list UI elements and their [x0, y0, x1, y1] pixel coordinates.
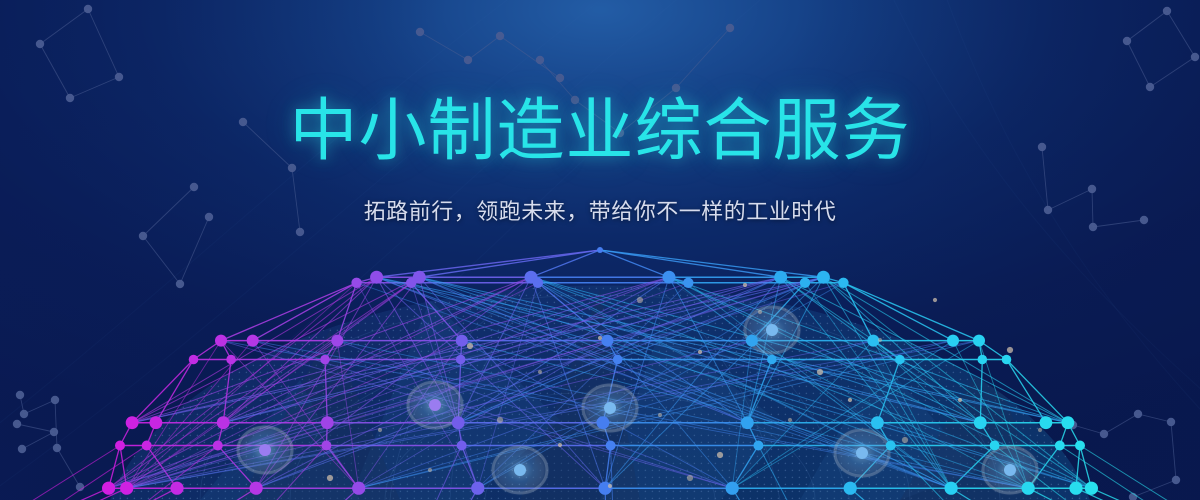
dome-node: [1055, 441, 1065, 451]
dome-node: [741, 416, 754, 429]
dome-node: [947, 335, 959, 347]
dome-particle: [637, 297, 643, 303]
dome-node: [351, 278, 361, 288]
dome-node: [150, 416, 163, 429]
dome-node: [990, 441, 1000, 451]
dome-node: [170, 482, 183, 495]
dome-node: [142, 441, 152, 451]
dome-particle: [933, 298, 937, 302]
dome-node: [800, 278, 810, 288]
dome-particle: [608, 484, 612, 488]
dome-particle: [958, 398, 962, 402]
dome-particle: [717, 452, 723, 458]
dome-node: [1085, 482, 1098, 495]
dome-node: [352, 482, 365, 495]
dome-node: [895, 355, 905, 365]
dome-particle: [687, 475, 693, 481]
dome-node: [844, 482, 857, 495]
dome-node: [867, 335, 879, 347]
dome-node: [683, 278, 693, 288]
dome-node: [247, 335, 259, 347]
dome-node: [452, 416, 465, 429]
dome-node: [533, 278, 543, 288]
dome-particle: [698, 350, 702, 354]
dome-node: [774, 271, 787, 284]
dome-node: [331, 335, 343, 347]
dome-particle: [658, 413, 662, 417]
dome-node: [320, 355, 330, 365]
dome-node: [817, 271, 830, 284]
banner-stage: 中小制造业综合服务 拓路前行，领跑未来，带给你不一样的工业时代: [0, 0, 1200, 500]
dome-node: [1040, 416, 1053, 429]
dome-particle: [848, 398, 852, 402]
dome-node: [406, 278, 416, 288]
dome-particle: [743, 283, 747, 287]
dome-node: [1069, 482, 1082, 495]
dome-node: [663, 271, 676, 284]
dome-particle: [878, 338, 882, 342]
dome-node: [226, 355, 236, 365]
dome-node: [457, 441, 467, 451]
dome-particle: [598, 336, 602, 340]
page-subtitle: 拓路前行，领跑未来，带给你不一样的工业时代: [0, 194, 1200, 226]
dome-node: [978, 355, 988, 365]
dome-node: [1002, 355, 1012, 365]
dome-network-graphic: [0, 0, 1200, 500]
dome-particle: [817, 369, 823, 375]
dome-particle: [378, 428, 382, 432]
dome-particle: [758, 310, 762, 314]
dome-particle: [558, 443, 562, 447]
dome-node: [321, 441, 331, 451]
dome-node: [886, 441, 896, 451]
dome-node: [753, 441, 763, 451]
dome-node: [126, 416, 139, 429]
dome-particle: [788, 418, 792, 422]
dome-node: [613, 355, 623, 365]
dome-particle: [902, 437, 908, 443]
dome-particle: [428, 468, 432, 472]
dome-node: [597, 416, 610, 429]
dome-node: [601, 335, 613, 347]
dome-particle: [327, 475, 333, 481]
dome-node: [213, 441, 223, 451]
dome-node: [1022, 482, 1035, 495]
dome-node: [250, 482, 263, 495]
dome-node: [945, 482, 958, 495]
dome-node: [217, 416, 230, 429]
dome-particle: [1007, 347, 1013, 353]
dome-node: [120, 482, 133, 495]
dome-node: [871, 416, 884, 429]
dome-node: [597, 247, 603, 253]
dome-node: [973, 335, 985, 347]
dome-node: [767, 355, 777, 365]
dome-node: [215, 335, 227, 347]
dome-node: [746, 335, 758, 347]
dome-node: [606, 441, 616, 451]
dome-particle: [467, 343, 473, 349]
dome-node: [456, 335, 468, 347]
dome-node: [102, 482, 115, 495]
dome-node: [471, 482, 484, 495]
dome-node: [456, 355, 466, 365]
dome-particle: [497, 417, 503, 423]
dome-node: [115, 441, 125, 451]
dome-node: [1062, 416, 1075, 429]
dome-node: [726, 482, 739, 495]
dome-node: [189, 355, 199, 365]
dome-particle: [1038, 428, 1042, 432]
dome-node: [321, 416, 334, 429]
dome-particle: [538, 370, 542, 374]
dome-node: [838, 278, 848, 288]
dome-node: [599, 482, 612, 495]
dome-node: [370, 271, 383, 284]
dome-node: [1075, 441, 1085, 451]
dome-node: [974, 416, 987, 429]
